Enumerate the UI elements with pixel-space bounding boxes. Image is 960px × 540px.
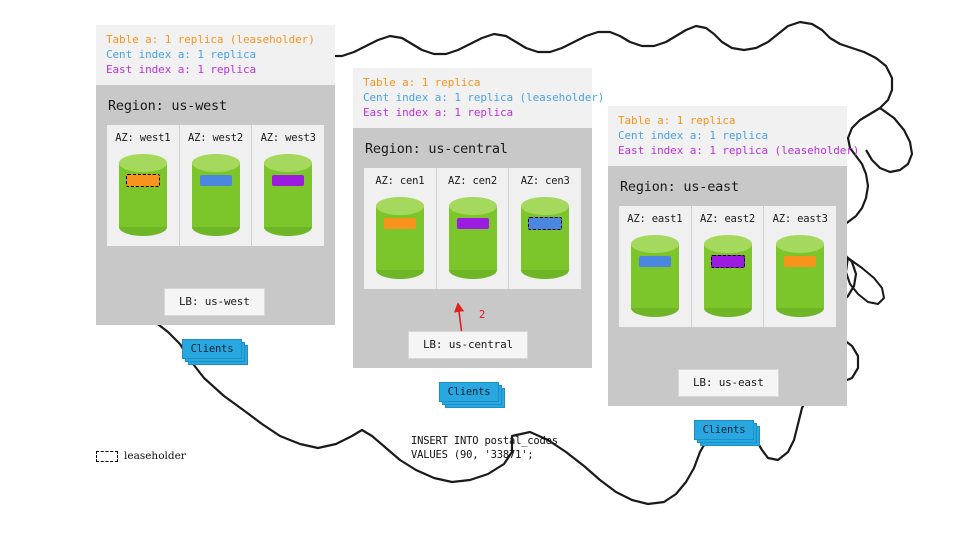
az-box-us-east: AZ: east1 AZ: east2 [619, 206, 836, 327]
load-balancer-us-central[interactable]: LB: us-central [408, 331, 528, 359]
az-label: AZ: cen1 [364, 175, 436, 187]
node-cylinder-cen2[interactable] [449, 197, 497, 279]
az-label: AZ: west3 [252, 132, 324, 144]
replica-line-table: Table a: 1 replica (leaseholder) [106, 32, 325, 47]
replica-line-table: Table a: 1 replica [363, 75, 582, 90]
clients-us-east[interactable]: Clients [694, 420, 760, 446]
az-label: AZ: east3 [764, 213, 836, 225]
az-label: AZ: east1 [619, 213, 691, 225]
az-cell-west2[interactable]: AZ: west2 [180, 125, 253, 246]
az-label: AZ: cen2 [437, 175, 509, 187]
region-title-us-east: Region: us-east [619, 176, 836, 206]
replica-band-east-index-leaseholder [711, 255, 745, 268]
arrow-step-number: 2 [479, 309, 485, 321]
replica-band-table-leaseholder [126, 174, 160, 187]
replica-band-cent-index-leaseholder [528, 217, 562, 230]
node-cylinder-west3[interactable] [264, 154, 312, 236]
az-cell-east1[interactable]: AZ: east1 [619, 206, 692, 327]
replica-line-cent-index: Cent index a: 1 replica [106, 47, 325, 62]
clients-us-west[interactable]: Clients [182, 339, 248, 365]
replica-line-east-index: East index a: 1 replica [106, 62, 325, 77]
sql-statement: INSERT INTO postal_codes VALUES (90, '33… [411, 434, 558, 462]
leaseholder-legend-label: leaseholder [124, 450, 186, 462]
replica-band-cent-index [200, 175, 232, 186]
replica-line-east-index: East index a: 1 replica [363, 105, 582, 120]
replica-line-table: Table a: 1 replica [618, 113, 837, 128]
az-cell-cen2[interactable]: AZ: cen2 [437, 168, 510, 289]
region-title-us-west: Region: us-west [107, 95, 324, 125]
replica-line-cent-index: Cent index a: 1 replica [618, 128, 837, 143]
region-body-us-west: Region: us-west AZ: west1 AZ: west2 [96, 85, 335, 325]
replica-band-table [784, 256, 816, 267]
load-balancer-us-west[interactable]: LB: us-west [164, 288, 265, 316]
az-label: AZ: west1 [107, 132, 179, 144]
leaseholder-legend: leaseholder [96, 450, 186, 462]
replica-band-east-index [272, 175, 304, 186]
replica-legend-us-central: Table a: 1 replica Cent index a: 1 repli… [353, 68, 592, 128]
region-body-us-east: Region: us-east AZ: east1 AZ: east2 [608, 166, 847, 406]
region-body-us-central: Region: us-central AZ: cen1 AZ: cen2 [353, 128, 592, 368]
region-title-us-central: Region: us-central [364, 138, 581, 168]
load-balancer-us-east[interactable]: LB: us-east [678, 369, 779, 397]
replica-legend-us-west: Table a: 1 replica (leaseholder) Cent in… [96, 25, 335, 85]
clients-us-central[interactable]: Clients [439, 382, 505, 408]
clients-label: Clients [448, 386, 491, 398]
az-box-us-central: AZ: cen1 AZ: cen2 [364, 168, 581, 289]
leaseholder-swatch-icon [96, 451, 118, 462]
az-label: AZ: east2 [692, 213, 764, 225]
replica-band-cent-index [639, 256, 671, 267]
az-cell-cen3[interactable]: AZ: cen3 [509, 168, 581, 289]
clients-label: Clients [703, 424, 746, 436]
node-cylinder-west1[interactable] [119, 154, 167, 236]
az-cell-west3[interactable]: AZ: west3 [252, 125, 324, 246]
az-cell-east3[interactable]: AZ: east3 [764, 206, 836, 327]
replica-line-cent-index: Cent index a: 1 replica (leaseholder) [363, 90, 582, 105]
replica-line-east-index: East index a: 1 replica (leaseholder) [618, 143, 837, 158]
diagram-canvas: Table a: 1 replica (leaseholder) Cent in… [0, 0, 960, 540]
az-cell-west1[interactable]: AZ: west1 [107, 125, 180, 246]
replica-band-east-index [457, 218, 489, 229]
az-cell-cen1[interactable]: AZ: cen1 [364, 168, 437, 289]
region-panel-us-central: Table a: 1 replica Cent index a: 1 repli… [353, 68, 592, 368]
region-panel-us-east: Table a: 1 replica Cent index a: 1 repli… [608, 106, 847, 406]
clients-label: Clients [191, 343, 234, 355]
az-box-us-west: AZ: west1 AZ: west2 [107, 125, 324, 246]
node-cylinder-cen1[interactable] [376, 197, 424, 279]
replica-band-table [384, 218, 416, 229]
az-cell-east2[interactable]: AZ: east2 [692, 206, 765, 327]
node-cylinder-east3[interactable] [776, 235, 824, 317]
node-cylinder-east2[interactable] [704, 235, 752, 317]
region-panel-us-west: Table a: 1 replica (leaseholder) Cent in… [96, 25, 335, 325]
node-cylinder-east1[interactable] [631, 235, 679, 317]
node-cylinder-cen3[interactable] [521, 197, 569, 279]
replica-legend-us-east: Table a: 1 replica Cent index a: 1 repli… [608, 106, 847, 166]
az-label: AZ: west2 [180, 132, 252, 144]
node-cylinder-west2[interactable] [192, 154, 240, 236]
az-label: AZ: cen3 [509, 175, 581, 187]
